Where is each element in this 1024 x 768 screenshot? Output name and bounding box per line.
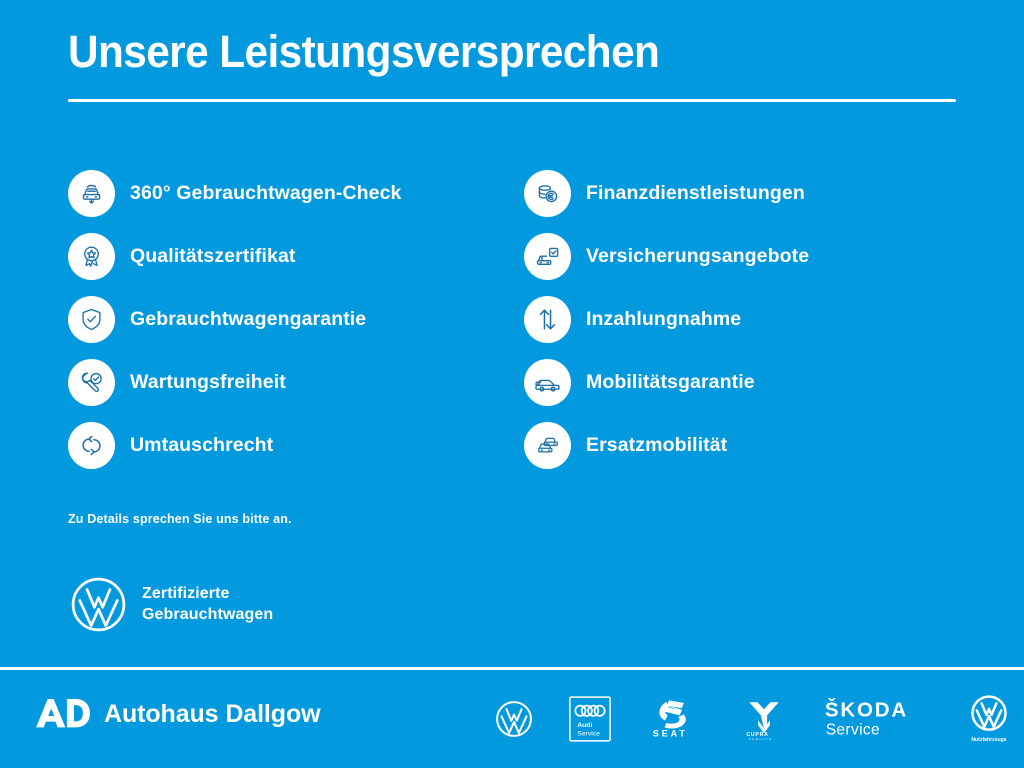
page-header: Unsere Leistungsversprechen (68, 28, 958, 102)
benefit-label: Umtauschrecht (130, 434, 273, 457)
audi-service-logo: Audi Service (569, 691, 611, 747)
two-cars-icon (524, 422, 571, 469)
award-rosette-icon (68, 233, 115, 280)
brand-logo-strip: Audi Service SEAT (495, 670, 1015, 768)
benefit-label: Versicherungsangebote (586, 245, 809, 268)
benefit-label: 360° Gebrauchtwagen-Check (130, 182, 401, 205)
benefit-item: Finanzdienstleistungen (524, 162, 968, 225)
certified-line-1: Zertifizierte (142, 584, 273, 604)
footer: Autohaus Dallgow (0, 670, 1024, 768)
car-side-icon (524, 359, 571, 406)
seat-logo: SEAT (647, 691, 705, 747)
svg-text:Nutzfahrzeuge: Nutzfahrzeuge (971, 737, 1006, 743)
benefit-item: Versicherungsangebote (524, 225, 968, 288)
benefit-list: 360° Gebrauchtwagen-Check Finanzdienstle… (68, 162, 968, 477)
benefit-label: Gebrauchtwagengarantie (130, 308, 366, 331)
svg-text:Service: Service (577, 730, 600, 737)
svg-text:SERVICE: SERVICE (748, 738, 772, 740)
benefit-item: 360° Gebrauchtwagen-Check (68, 162, 524, 225)
shield-check-icon (68, 296, 115, 343)
benefit-label: Mobilitätsgarantie (586, 371, 755, 394)
benefit-label: Wartungsfreiheit (130, 371, 286, 394)
volkswagen-logo (495, 691, 533, 747)
coins-euro-icon (524, 170, 571, 217)
certified-line-2: Gebrauchtwagen (142, 605, 273, 625)
cupra-service-logo: CUPRA SERVICE (741, 691, 787, 747)
page-title: Unsere Leistungsversprechen (68, 28, 905, 77)
skoda-service-logo: ŠKODA Service (823, 691, 927, 747)
certified-used-cars-badge: Zertifizierte Gebrauchtwagen (70, 576, 273, 633)
svg-text:SEAT: SEAT (653, 728, 688, 738)
arrows-up-down-icon (524, 296, 571, 343)
svg-text:ŠKODA: ŠKODA (825, 698, 908, 722)
circular-arrows-icon (68, 422, 115, 469)
benefit-label: Ersatzmobilität (586, 434, 727, 457)
benefit-item: Mobilitätsgarantie (524, 351, 968, 414)
benefit-label: Inzahlungnahme (586, 308, 741, 331)
dealer-branding: Autohaus Dallgow (36, 696, 320, 732)
benefit-item: Ersatzmobilität (524, 414, 968, 477)
benefit-item: Inzahlungnahme (524, 288, 968, 351)
certified-label: Zertifizierte Gebrauchtwagen (142, 584, 273, 625)
wrench-gear-check-icon (68, 359, 115, 406)
benefit-label: Finanzdienstleistungen (586, 182, 805, 205)
benefit-item: Qualitätszertifikat (68, 225, 524, 288)
footnote-text: Zu Details sprechen Sie uns bitte an. (68, 512, 292, 526)
car-360-check-icon (68, 170, 115, 217)
svg-text:Service: Service (826, 722, 880, 739)
benefit-item: Umtauschrecht (68, 414, 524, 477)
svg-text:Audi: Audi (577, 722, 592, 729)
benefit-label: Qualitätszertifikat (130, 245, 296, 268)
ad-monogram-icon (36, 696, 90, 732)
vw-nutzfahrzeuge-logo: Nutzfahrzeuge (963, 691, 1015, 747)
car-insurance-check-icon (524, 233, 571, 280)
benefit-item: Wartungsfreiheit (68, 351, 524, 414)
promise-page: Unsere Leistungsversprechen 360° Gebrauc… (0, 0, 1024, 768)
title-divider (68, 99, 956, 102)
dealer-name: Autohaus Dallgow (104, 700, 320, 729)
benefit-item: Gebrauchtwagengarantie (68, 288, 524, 351)
vw-roundel-icon (70, 576, 127, 633)
